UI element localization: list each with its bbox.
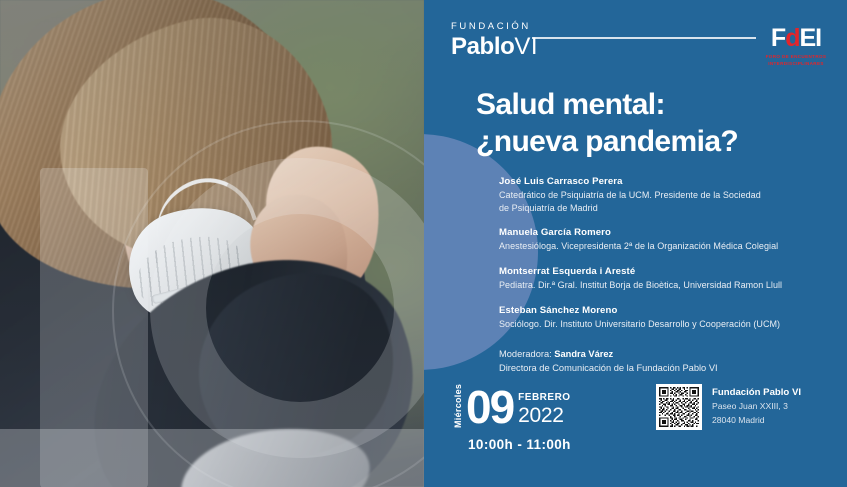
speaker-role-cont: de Psiquiatría de Madrid: [499, 202, 829, 215]
poster-title-line2: ¿nueva pandemia?: [476, 123, 836, 160]
event-date-row: Miércoles 09 FEBRERO 2022: [454, 378, 664, 428]
speaker-name: José Luis Carrasco Perera: [499, 175, 829, 189]
speakers-list: José Luis Carrasco Perera Catedrático de…: [499, 175, 829, 376]
foundation-logo-top: FUNDACIÓN: [451, 22, 538, 32]
photo-color-tint: [0, 0, 424, 487]
fdei-subtitle-line2: INTERDISCIPLINARES: [759, 61, 833, 68]
event-poster: FUNDACIÓN PabloVI FdEI FORO DE ENCUENTRO…: [0, 0, 847, 487]
speaker-item: Esteban Sánchez Moreno Sociólogo. Dir. I…: [499, 304, 829, 331]
venue-address-line2: 28040 Madrid: [712, 414, 801, 427]
speaker-item: Manuela García Romero Anestesióloga. Vic…: [499, 226, 829, 253]
fdei-letter-ei: EI: [799, 24, 821, 52]
speaker-item: José Luis Carrasco Perera Catedrático de…: [499, 175, 829, 214]
speaker-name: Montserrat Esquerda i Aresté: [499, 265, 829, 279]
event-weekday: Miércoles: [454, 382, 463, 428]
fdei-subtitle-line1: FORO DE ENCUENTROS: [759, 54, 833, 61]
poster-title-line1: Salud mental:: [476, 86, 836, 123]
speaker-role: Catedrático de Psiquiatría de la UCM. Pr…: [499, 189, 829, 202]
speaker-item: Montserrat Esquerda i Aresté Pediatra. D…: [499, 265, 829, 292]
moderator-block: Moderadora: Sandra Várez Directora de Co…: [499, 348, 829, 376]
hero-photo: [0, 0, 424, 487]
moderator-name-line: Moderadora: Sandra Várez: [499, 348, 829, 362]
poster-header: FUNDACIÓN PabloVI FdEI FORO DE ENCUENTRO…: [424, 0, 847, 86]
venue-block: Fundación Pablo VI Paseo Juan XXIII, 3 2…: [656, 384, 801, 430]
foundation-logo-name: PabloVI: [451, 35, 538, 59]
fdei-logo-word: FdEI: [759, 26, 833, 51]
speaker-name: Manuela García Romero: [499, 226, 829, 240]
content-panel: FUNDACIÓN PabloVI FdEI FORO DE ENCUENTRO…: [424, 0, 847, 487]
event-day: 09: [466, 386, 513, 428]
fdei-logo: FdEI FORO DE ENCUENTROS INTERDISCIPLINAR…: [759, 26, 833, 68]
header-divider: [532, 37, 756, 39]
foundation-logo: FUNDACIÓN PabloVI: [451, 22, 538, 59]
event-time: 10:00h - 11:00h: [468, 437, 664, 452]
fdei-letter-f: F: [771, 24, 785, 52]
speaker-role: Sociólogo. Dir. Instituto Universitario …: [499, 318, 829, 331]
event-year: 2022: [518, 405, 570, 426]
fdei-letter-d: d: [785, 24, 799, 52]
speaker-name: Esteban Sánchez Moreno: [499, 304, 829, 318]
moderator-label: Moderadora:: [499, 349, 554, 359]
moderator-role: Directora de Comunicación de la Fundació…: [499, 362, 829, 376]
event-date-block: Miércoles 09 FEBRERO 2022 10:00h - 11:00…: [454, 378, 664, 452]
foundation-logo-name-text: Pablo: [451, 33, 514, 60]
venue-address-line1: Paseo Juan XXIII, 3: [712, 400, 801, 413]
qr-code-svg: [659, 387, 699, 427]
poster-title: Salud mental: ¿nueva pandemia?: [476, 86, 836, 160]
event-month: FEBRERO: [518, 393, 570, 403]
photo-bottom-band: [0, 429, 424, 487]
venue-name: Fundación Pablo VI: [712, 386, 801, 400]
speaker-role: Pediatra. Dir.ª Gral. Institut Borja de …: [499, 279, 829, 292]
event-month-year: FEBRERO 2022: [518, 393, 570, 428]
speaker-role: Anestesióloga. Vicepresidenta 2ª de la O…: [499, 240, 829, 253]
qr-code-icon[interactable]: [656, 384, 702, 430]
fdei-logo-subtitle: FORO DE ENCUENTROS INTERDISCIPLINARES: [759, 54, 833, 68]
moderator-name: Sandra Várez: [554, 349, 613, 359]
venue-text: Fundación Pablo VI Paseo Juan XXIII, 3 2…: [712, 384, 801, 427]
